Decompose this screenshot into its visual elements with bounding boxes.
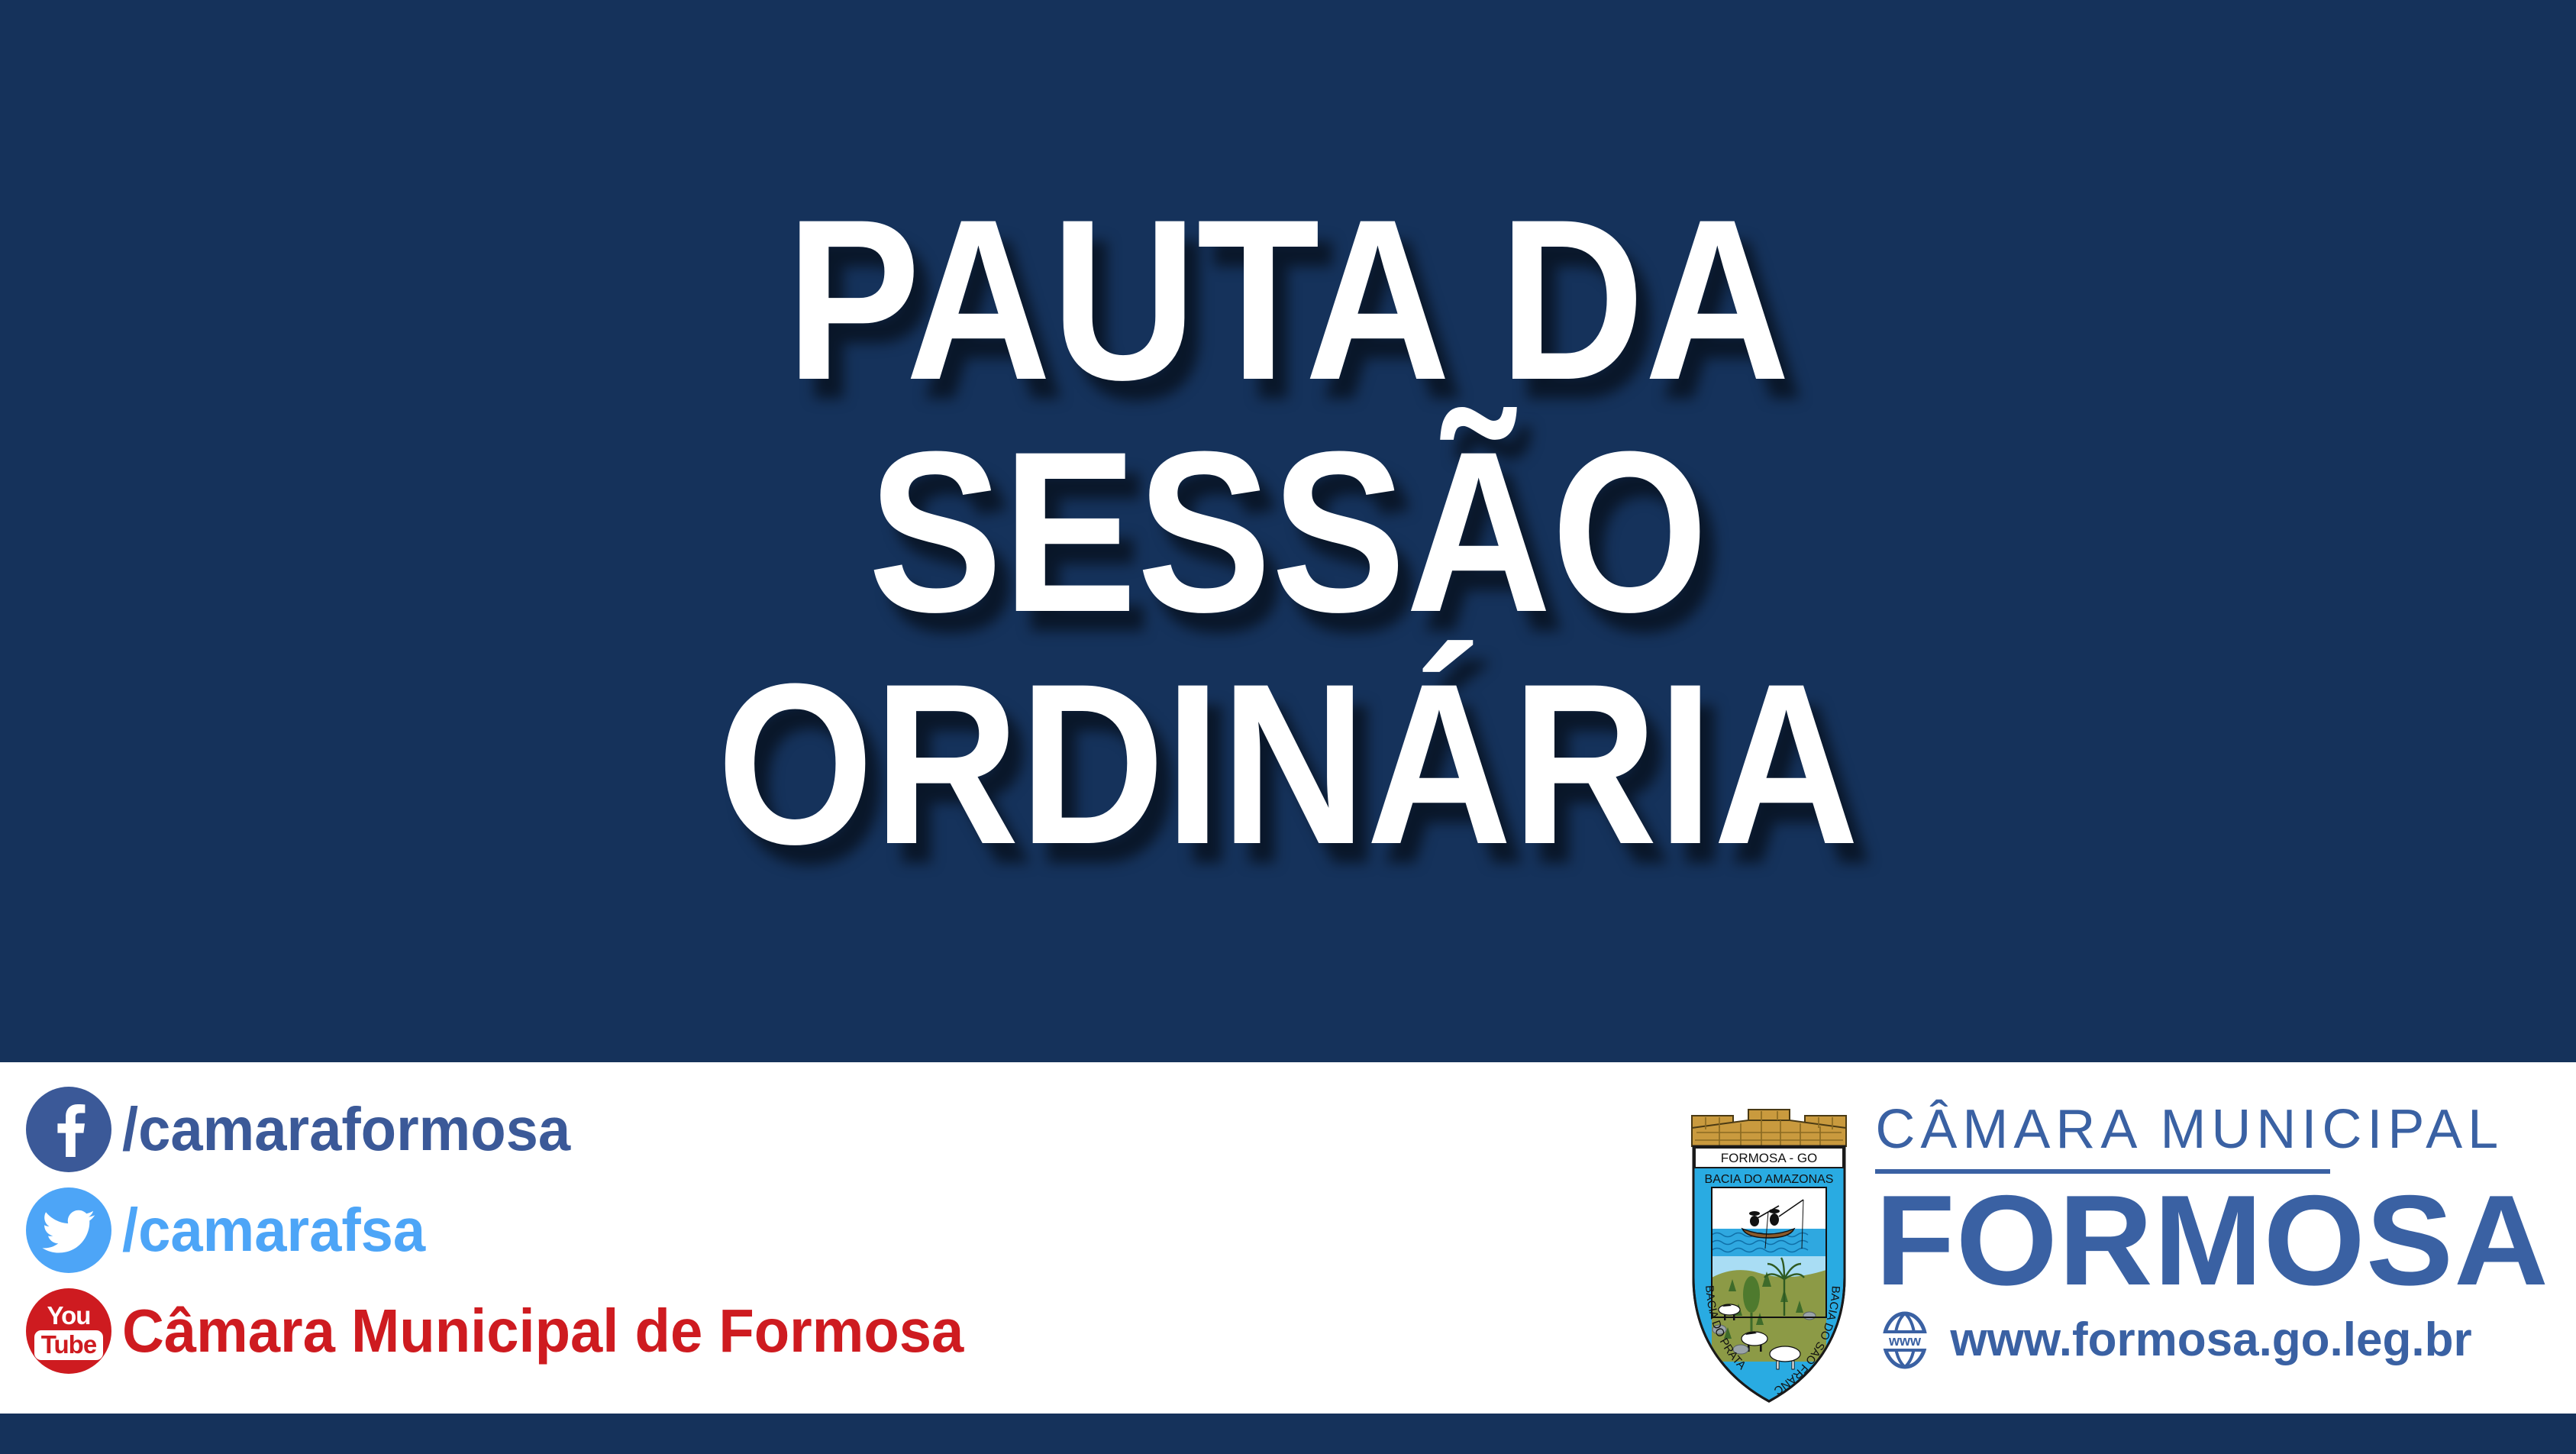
facebook-icon[interactable] — [26, 1087, 111, 1172]
svg-text:www: www — [1888, 1333, 1922, 1349]
brand-name: FORMOSA — [1875, 1181, 2549, 1300]
youtube-glyph: You Tube — [34, 1303, 103, 1360]
youtube-glyph-top: You — [47, 1303, 91, 1328]
twitter-handle-label: /camarafsa — [122, 1200, 425, 1261]
svg-text:FORMOSA - GO: FORMOSA - GO — [1721, 1151, 1818, 1165]
brand-lockup: FORMOSA - GO BACIA DO AMAZONAS — [1689, 1073, 2536, 1407]
brand-title: CÂMARA MUNICIPAL — [1875, 1102, 2536, 1157]
social-row-youtube[interactable]: You Tube Câmara Municipal de Formosa — [26, 1281, 1008, 1381]
bottom-navy-strip — [0, 1414, 2576, 1454]
globe-www-icon: www — [1875, 1310, 1935, 1370]
svg-text:BACIA DO AMAZONAS: BACIA DO AMAZONAS — [1705, 1173, 1834, 1186]
hero-title-line-3: ORDINÁRIA — [717, 654, 1859, 874]
brand-website-url[interactable]: www.formosa.go.leg.br — [1950, 1317, 2471, 1364]
hero-title-line-2: SESSÃO — [868, 422, 1708, 641]
social-row-twitter[interactable]: /camarafsa — [26, 1180, 1008, 1281]
brand-text-block: CÂMARA MUNICIPAL FORMOSA www — [1875, 1073, 2536, 1370]
hero-title-line-1: PAUTA DA — [786, 189, 1790, 409]
brand-website-row[interactable]: www www.formosa.go.leg.br — [1875, 1310, 2536, 1370]
social-row-facebook[interactable]: /camaraformosa — [26, 1079, 1008, 1180]
formosa-coat-of-arms: FORMOSA - GO BACIA DO AMAZONAS — [1689, 1087, 1849, 1407]
youtube-channel-label: Câmara Municipal de Formosa — [122, 1301, 964, 1362]
twitter-icon[interactable] — [26, 1187, 111, 1273]
footer-bar: /camaraformosa /camarafsa You Tube — [0, 1062, 2576, 1414]
facebook-handle-label: /camaraformosa — [122, 1099, 570, 1160]
poster-canvas: PAUTA DA SESSÃO ORDINÁRIA /camaraformosa — [0, 0, 2576, 1454]
youtube-icon[interactable]: You Tube — [26, 1288, 111, 1374]
social-links-list: /camaraformosa /camarafsa You Tube — [26, 1079, 1008, 1381]
youtube-glyph-bottom: Tube — [34, 1330, 103, 1360]
hero-banner: PAUTA DA SESSÃO ORDINÁRIA — [0, 0, 2576, 1062]
